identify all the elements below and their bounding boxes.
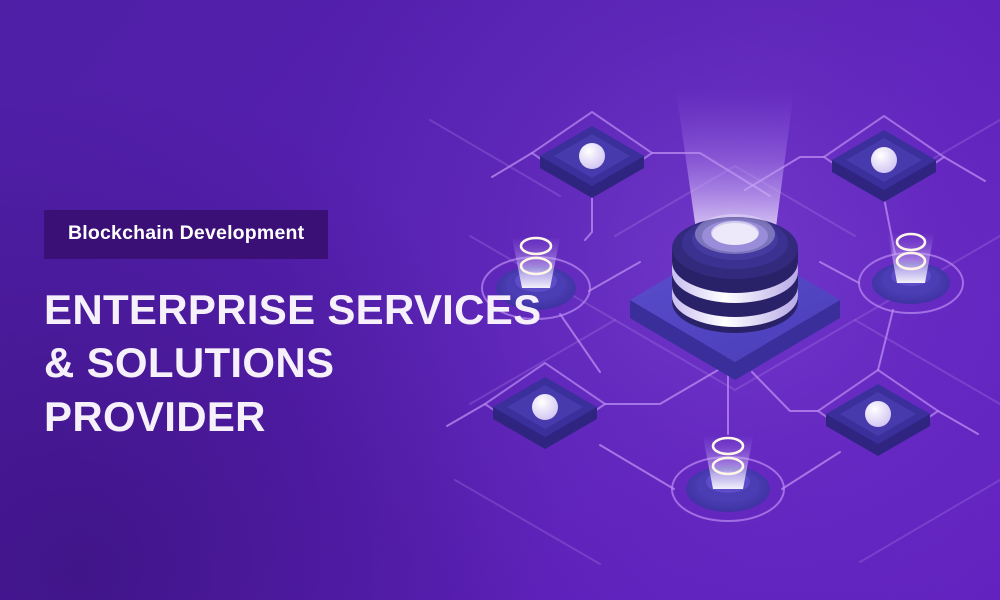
connector-ring-top-right [824, 116, 944, 198]
connector-ring-bottom-right [818, 370, 938, 452]
node-bottom-beacon [686, 437, 770, 512]
node-bottom-right [826, 384, 930, 456]
central-platform [630, 238, 840, 380]
connector-top-left-down [585, 194, 592, 240]
connector-right-beacon-to-center [820, 262, 859, 283]
connector-bottom-left-to-center [605, 370, 718, 404]
connector-bottom-right-outer [938, 411, 978, 434]
connector-bottom-beacon-right [782, 452, 840, 489]
connector-left-beacon-down [560, 314, 600, 372]
page-title: ENTERPRISE SERVICES & SOLUTIONS PROVIDER [44, 283, 564, 444]
connector-ring-right-beacon [859, 253, 963, 313]
headline-line-2: & SOLUTIONS PROVIDER [44, 336, 564, 444]
node-dot [871, 147, 897, 173]
node-dot [579, 143, 605, 169]
connector-ring-bottom-beacon [672, 457, 784, 521]
node-top-left [540, 126, 644, 198]
headline-line-1: ENTERPRISE SERVICES [44, 286, 541, 333]
connector-top-left-outer [492, 153, 532, 177]
connector-ring-top-left [532, 112, 652, 194]
connector-top-left-to-center [652, 153, 770, 196]
node-top-right [832, 130, 936, 202]
connector-top-right-to-center [745, 157, 824, 190]
connector-bottom-beacon-left [600, 445, 674, 489]
center-light-beam [676, 90, 794, 258]
connector-left-beacon-to-center [589, 262, 640, 291]
category-badge: Blockchain Development [44, 210, 328, 259]
connector-right-beacon-down [878, 310, 893, 370]
hero-copy: Blockchain Development ENTERPRISE SERVIC… [44, 210, 564, 444]
connector-bottom-right-to-center [752, 372, 818, 411]
node-dot [865, 401, 891, 427]
central-database [672, 214, 798, 333]
connector-right-beacon-up [884, 198, 895, 254]
hero-banner: Blockchain Development ENTERPRISE SERVIC… [0, 0, 1000, 600]
connector-top-right-outer [944, 157, 985, 181]
node-right-beacon [872, 234, 950, 304]
